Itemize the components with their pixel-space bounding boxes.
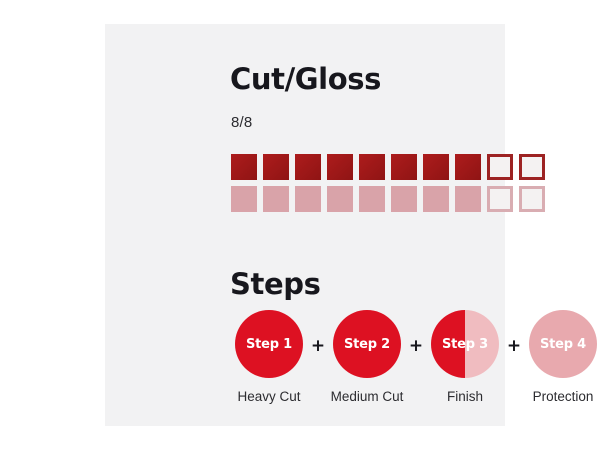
step-caption: Medium Cut [331, 387, 404, 406]
rating-square-gloss-4[interactable] [327, 186, 353, 212]
rating-square-cut-1[interactable] [231, 154, 257, 180]
step-circle-1[interactable]: Step 1 [235, 310, 303, 378]
rating-square-gloss-3[interactable] [295, 186, 321, 212]
cut-gloss-title: Cut/Gloss [230, 62, 381, 96]
rating-square-gloss-8[interactable] [455, 186, 481, 212]
step-item-2[interactable]: Step 2Medium Cut [329, 310, 405, 406]
rating-square-gloss-1[interactable] [231, 186, 257, 212]
step-circle-2[interactable]: Step 2 [333, 310, 401, 378]
step-item-4[interactable]: Step 4Protection [525, 310, 601, 406]
rating-square-gloss-7[interactable] [423, 186, 449, 212]
rating-square-gloss-5[interactable] [359, 186, 385, 212]
step-separator-plus-icon: + [307, 336, 329, 356]
step-badge-label: Step 1 [246, 337, 292, 352]
rating-row-cut [231, 154, 545, 180]
step-badge-label: Step 4 [540, 337, 586, 352]
rating-square-cut-8[interactable] [455, 154, 481, 180]
rating-square-cut-9[interactable] [487, 154, 513, 180]
rating-square-gloss-6[interactable] [391, 186, 417, 212]
rating-square-gloss-10[interactable] [519, 186, 545, 212]
rating-square-cut-10[interactable] [519, 154, 545, 180]
step-caption: Protection [533, 387, 594, 406]
steps-title: Steps [230, 267, 320, 301]
step-circle-4[interactable]: Step 4 [529, 310, 597, 378]
step-caption: Finish [447, 387, 483, 406]
info-card-panel: Cut/Gloss 8/8 Steps Step 1Heavy Cut+Step… [105, 24, 505, 426]
cut-gloss-rating-squares [231, 154, 545, 212]
step-circle-3[interactable]: Step 3 [431, 310, 499, 378]
steps-sequence: Step 1Heavy Cut+Step 2Medium Cut+Step 3F… [231, 310, 601, 406]
rating-square-cut-4[interactable] [327, 154, 353, 180]
step-item-1[interactable]: Step 1Heavy Cut [231, 310, 307, 406]
rating-square-cut-2[interactable] [263, 154, 289, 180]
step-separator-plus-icon: + [503, 336, 525, 356]
step-caption: Heavy Cut [237, 387, 300, 406]
screenshot-root: Cut/Gloss 8/8 Steps Step 1Heavy Cut+Step… [0, 0, 610, 450]
cut-gloss-ratio: 8/8 [231, 114, 252, 131]
step-badge-label: Step 3 [442, 337, 488, 352]
rating-square-cut-3[interactable] [295, 154, 321, 180]
step-separator-plus-icon: + [405, 336, 427, 356]
step-item-3[interactable]: Step 3Finish [427, 310, 503, 406]
rating-square-cut-7[interactable] [423, 154, 449, 180]
rating-square-gloss-9[interactable] [487, 186, 513, 212]
rating-square-gloss-2[interactable] [263, 186, 289, 212]
rating-square-cut-6[interactable] [391, 154, 417, 180]
step-badge-label: Step 2 [344, 337, 390, 352]
rating-row-gloss [231, 186, 545, 212]
rating-square-cut-5[interactable] [359, 154, 385, 180]
